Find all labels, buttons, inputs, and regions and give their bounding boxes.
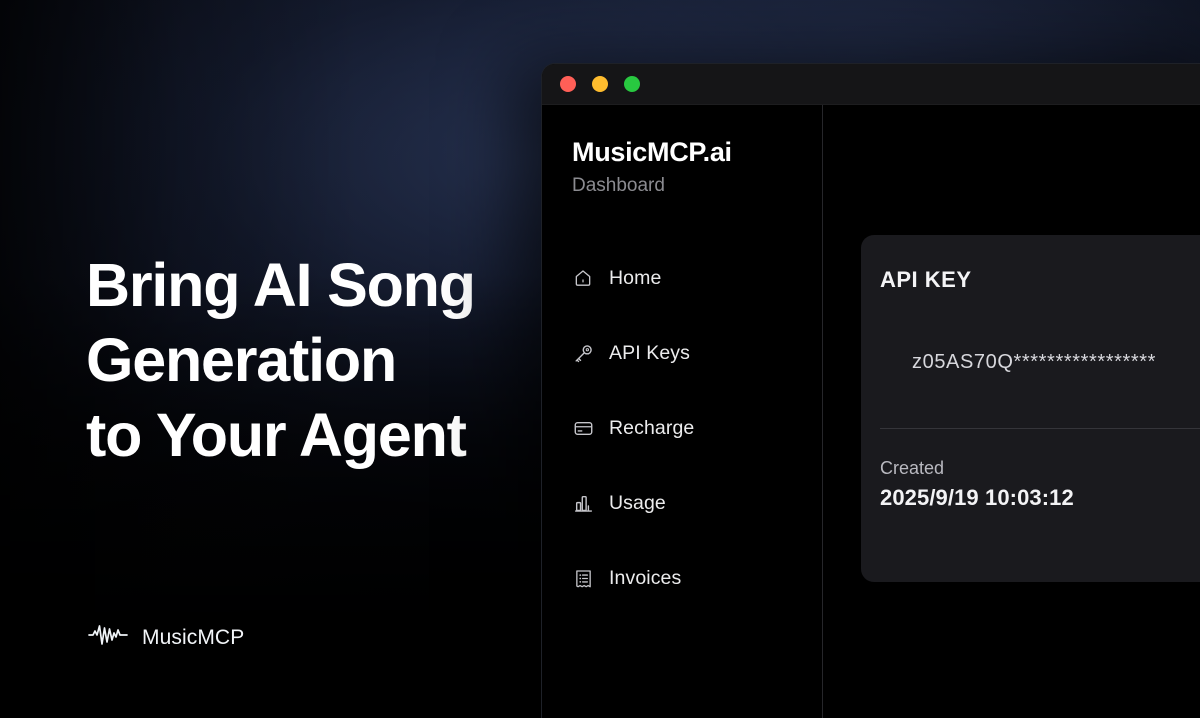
app-window: MusicMCP.ai Dashboard Home [541, 63, 1200, 718]
sidebar-item-label: Usage [609, 492, 666, 515]
created-meta: Created 2025/9/19 10:03:12 [880, 456, 1200, 512]
app-subtitle: Dashboard [572, 174, 822, 198]
brand-lockup: MusicMCP [88, 624, 244, 651]
screen: Bring AI Song Generation to Your Agent M… [0, 0, 1200, 718]
created-value: 2025/9/19 10:03:12 [880, 484, 1200, 512]
sidebar-item-usage[interactable]: Usage [572, 485, 822, 521]
traffic-lights [560, 76, 640, 92]
receipt-icon [572, 567, 594, 589]
window-titlebar[interactable] [542, 64, 1200, 105]
api-key-card-title: API KEY [880, 267, 972, 292]
sidebar-item-invoices[interactable]: Invoices [572, 560, 822, 596]
headline-line-2: Generation [86, 323, 556, 398]
sidebar-nav: Home API Keys [572, 260, 822, 635]
home-icon [572, 267, 594, 289]
window-body: MusicMCP.ai Dashboard Home [542, 105, 1200, 718]
sidebar-item-label: Invoices [609, 567, 681, 590]
sidebar-item-home[interactable]: Home [572, 260, 822, 296]
app-name: MusicMCP.ai [572, 136, 822, 168]
sidebar: MusicMCP.ai Dashboard Home [542, 105, 823, 718]
close-button[interactable] [560, 76, 576, 92]
credit-card-icon [572, 417, 594, 439]
sidebar-item-label: API Keys [609, 342, 690, 365]
audio-waveform-icon [88, 624, 128, 651]
api-key-value[interactable]: z05AS70Q***************** [880, 351, 1200, 374]
bar-chart-icon [572, 492, 594, 514]
zoom-button[interactable] [624, 76, 640, 92]
main-content: API KEY z05AS70Q***************** Create… [823, 105, 1200, 718]
sidebar-item-label: Home [609, 267, 661, 290]
hero-section: Bring AI Song Generation to Your Agent [86, 248, 556, 473]
sidebar-item-label: Recharge [609, 417, 694, 440]
api-key-card: API KEY z05AS70Q***************** Create… [861, 235, 1200, 582]
brand-name: MusicMCP [142, 626, 244, 650]
card-divider [880, 428, 1200, 429]
api-key-card-header: API KEY [880, 267, 1200, 293]
headline-line-1: Bring AI Song [86, 248, 556, 323]
page-title: Bring AI Song Generation to Your Agent [86, 248, 556, 473]
sidebar-item-api-keys[interactable]: API Keys [572, 335, 822, 371]
created-label: Created [880, 456, 1200, 480]
minimize-button[interactable] [592, 76, 608, 92]
key-icon [572, 342, 594, 364]
sidebar-item-recharge[interactable]: Recharge [572, 410, 822, 446]
headline-line-3: to Your Agent [86, 398, 556, 473]
